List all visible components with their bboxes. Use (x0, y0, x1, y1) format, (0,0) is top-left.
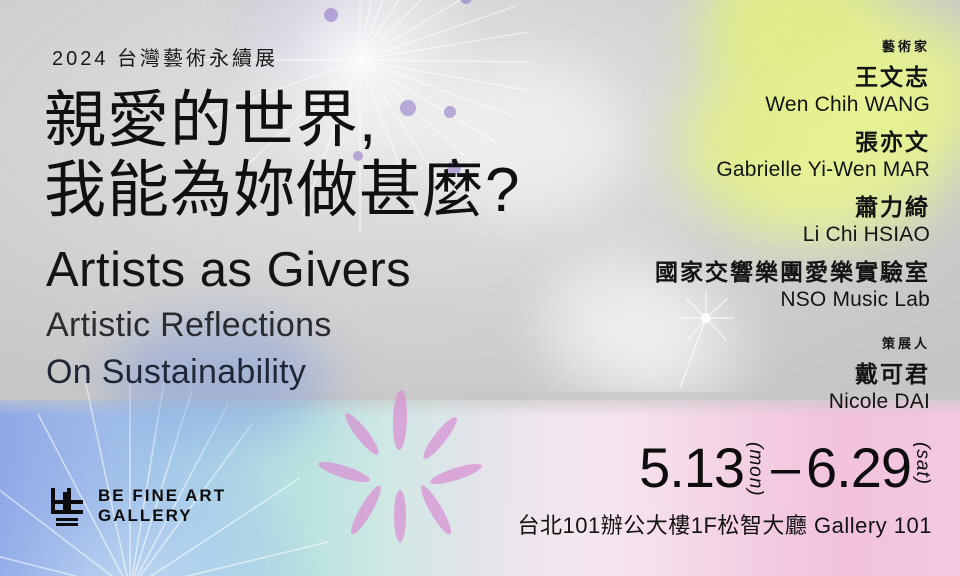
start-day-of-week: (mon) (746, 442, 765, 497)
gallery-logo[interactable]: BE FINE ART GALLERY (50, 486, 226, 526)
exhibition-date-range: 5.13 (mon) – 6.29 (sat) (639, 440, 932, 497)
artist-name-en: Gabrielle Yi-Wen MAR (510, 156, 930, 183)
artist-entry: 國家交響樂團愛樂實驗室 NSO Music Lab (510, 258, 930, 313)
artists-label: 藝術家 (510, 36, 930, 55)
credits-block: 藝術家 王文志 Wen Chih WANG 張亦文 Gabrielle Yi-W… (510, 36, 930, 425)
curator-name-cn: 戴可君 (510, 360, 930, 388)
artist-name-cn: 國家交響樂團愛樂實驗室 (510, 258, 930, 286)
date-separator: – (771, 440, 800, 496)
artist-name-en: NSO Music Lab (510, 286, 930, 313)
gallery-logo-line2: GALLERY (98, 506, 226, 526)
title-chinese-line2: 我能為妳做甚麼? (44, 158, 520, 224)
title-english-sub1: Artistic Reflections (46, 305, 332, 345)
gallery-logo-text: BE FINE ART GALLERY (98, 486, 226, 526)
end-day-of-week: (sat) (913, 442, 932, 485)
curator-entry: 戴可君 Nicole DAI (510, 360, 930, 415)
end-date: 6.29 (806, 440, 911, 496)
venue-text: 台北101辦公大樓1F松智大廳 Gallery 101 (518, 508, 933, 540)
artist-name-en: Wen Chih WANG (510, 91, 930, 118)
title-chinese-line1: 親愛的世界, (44, 88, 377, 154)
bi-character-mark-icon (50, 486, 84, 526)
artist-entry: 王文志 Wen Chih WANG (510, 63, 930, 118)
exhibition-kicker: 2024 台灣藝術永續展 (52, 42, 278, 71)
artist-name-cn: 張亦文 (510, 128, 930, 156)
artist-entry: 蕭力綺 Li Chi HSIAO (510, 193, 930, 248)
curator-block: 策展人 戴可君 Nicole DAI (510, 333, 930, 415)
curator-label: 策展人 (510, 333, 930, 352)
title-english-main: Artists as Givers (46, 243, 411, 297)
artist-entry: 張亦文 Gabrielle Yi-Wen MAR (510, 128, 930, 183)
title-english-sub2: On Sustainability (46, 352, 306, 392)
gallery-logo-line1: BE FINE ART (98, 486, 226, 506)
artist-name-cn: 蕭力綺 (510, 193, 930, 221)
artist-name-cn: 王文志 (510, 63, 930, 91)
artist-name-en: Li Chi HSIAO (510, 221, 930, 248)
exhibition-poster: 2024 台灣藝術永續展 親愛的世界, 我能為妳做甚麼? Artists as … (0, 0, 960, 576)
start-date: 5.13 (639, 440, 744, 496)
poster-content: 2024 台灣藝術永續展 親愛的世界, 我能為妳做甚麼? Artists as … (0, 0, 960, 576)
curator-name-en: Nicole DAI (510, 388, 930, 415)
